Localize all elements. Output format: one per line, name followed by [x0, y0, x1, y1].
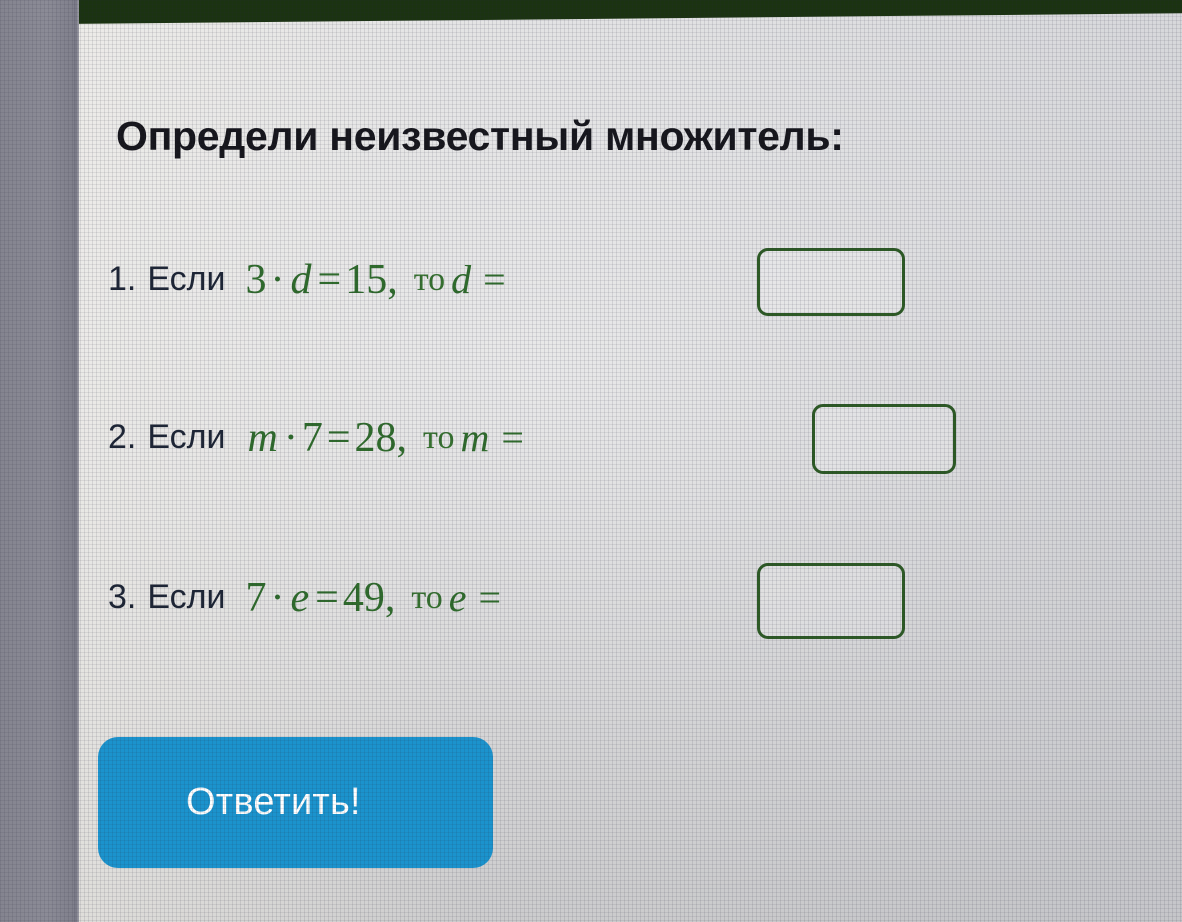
- task-row-1: 1. Если 3·d=15, то d =: [108, 256, 506, 303]
- task-3-operator: ·: [267, 575, 289, 621]
- exercise-content: Определи неизвестный множитель: 1. Если …: [0, 0, 1182, 922]
- task-3-index: 3.: [108, 578, 136, 617]
- task-3-unknown: e: [449, 574, 467, 621]
- task-3-product: 49: [343, 575, 385, 621]
- task-2-factor-right: 7: [302, 415, 323, 461]
- answer-input-2[interactable]: [812, 404, 956, 474]
- task-3-result-equals: =: [479, 574, 502, 621]
- task-2-equals: =: [323, 415, 355, 461]
- task-2-factor-left: m: [246, 415, 280, 461]
- page-title: Определи неизвестный множитель:: [116, 113, 844, 160]
- task-2-lead: Если: [147, 418, 225, 457]
- task-3-comma: ,: [385, 575, 396, 621]
- answer-input-3[interactable]: [757, 563, 905, 639]
- screenshot-root: Определи неизвестный множитель: 1. Если …: [0, 0, 1182, 922]
- task-2-index: 2.: [108, 418, 136, 457]
- task-3-factor-right: e: [289, 575, 312, 621]
- task-2-then: то: [423, 419, 454, 457]
- task-2-expression: m·7=28,: [246, 417, 408, 459]
- task-2-product: 28: [355, 415, 397, 461]
- task-1-operator: ·: [267, 257, 289, 303]
- task-1-then: то: [414, 261, 445, 299]
- task-row-2: 2. Если m·7=28, то m =: [108, 414, 524, 461]
- task-1-factor-right: d: [289, 257, 314, 303]
- task-1-factor-left: 3: [246, 257, 267, 303]
- task-2-unknown: m: [460, 414, 489, 461]
- task-3-then: то: [411, 579, 442, 617]
- task-2-result-equals: =: [501, 414, 524, 461]
- task-1-result-equals: =: [483, 256, 506, 303]
- task-1-comma: ,: [387, 257, 398, 303]
- task-3-factor-left: 7: [246, 575, 267, 621]
- task-2-comma: ,: [397, 415, 408, 461]
- task-1-lead: Если: [147, 260, 225, 299]
- task-3-equals: =: [311, 575, 343, 621]
- task-1-expression: 3·d=15,: [246, 259, 398, 301]
- task-2-operator: ·: [280, 415, 302, 461]
- task-1-equals: =: [314, 257, 346, 303]
- task-row-3: 3. Если 7·e=49, то e =: [108, 574, 501, 621]
- task-1-product: 15: [345, 257, 387, 303]
- task-1-index: 1.: [108, 260, 136, 299]
- task-3-expression: 7·e=49,: [246, 577, 396, 619]
- task-3-lead: Если: [147, 578, 225, 617]
- answer-input-1[interactable]: [757, 248, 905, 316]
- task-1-unknown: d: [451, 256, 471, 303]
- submit-answer-button[interactable]: Ответить!: [98, 737, 493, 868]
